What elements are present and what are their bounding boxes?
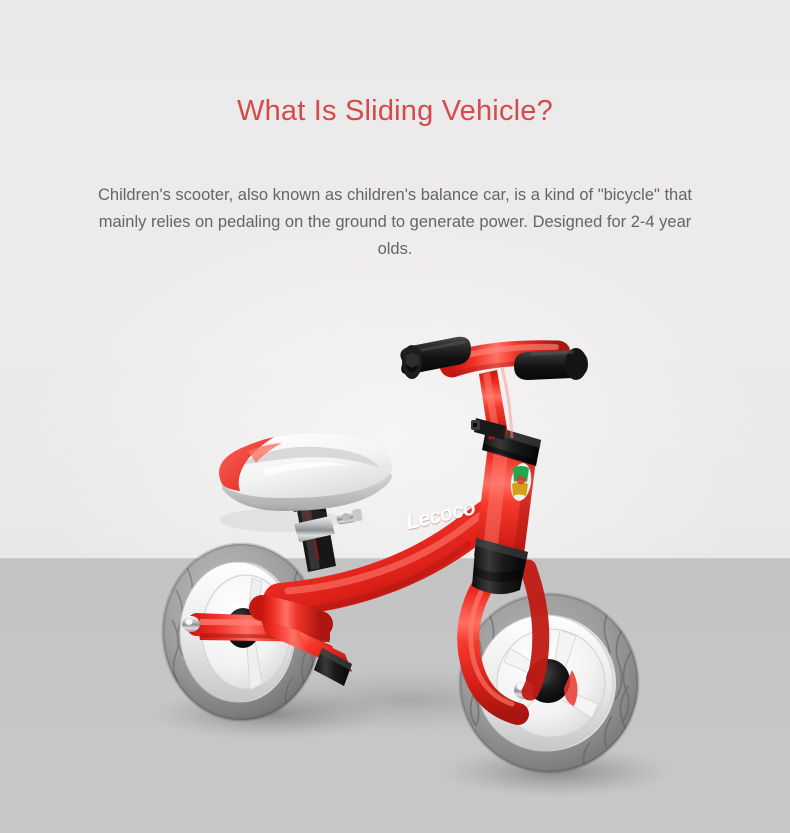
seat: [219, 433, 392, 511]
handlebar-stem: [471, 368, 512, 440]
product-image: [0, 0, 790, 833]
rear-axle-bolt: [182, 616, 200, 632]
frame-bottom-tube: [262, 608, 320, 624]
right-grip[interactable]: [514, 348, 588, 380]
product-detail-page: What Is Sliding Vehicle? Children's scoo…: [0, 0, 790, 833]
